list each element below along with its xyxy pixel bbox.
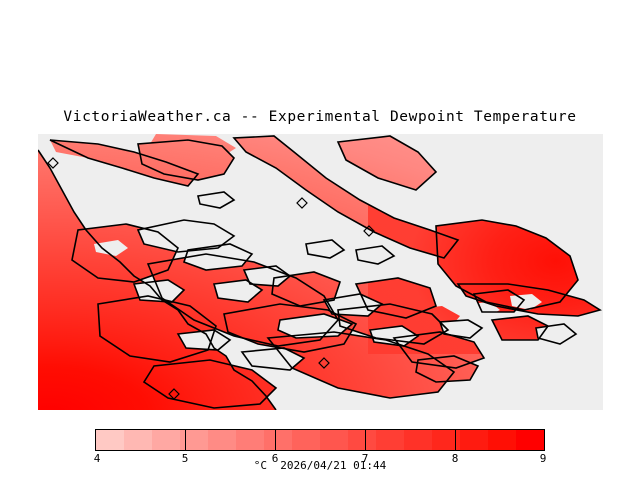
- dewpoint-field: [38, 134, 603, 410]
- colorbar-tick-8: [455, 429, 456, 451]
- colorbar-tick-7: [365, 429, 366, 451]
- colorbar-tick-5: [185, 429, 186, 451]
- map-canvas[interactable]: [38, 134, 603, 410]
- colorbar-gradient: [95, 429, 545, 451]
- weather-map-page: VictoriaWeather.ca -- Experimental Dewpo…: [0, 0, 640, 480]
- colorbar-caption: °C 2026/04/21 01:44: [0, 459, 640, 472]
- dewpoint-contour-map: [38, 134, 603, 410]
- page-title: VictoriaWeather.ca -- Experimental Dewpo…: [0, 109, 640, 125]
- colorbar-tick-6: [275, 429, 276, 451]
- colorbar[interactable]: 4 5 6 7 8 9: [95, 429, 545, 451]
